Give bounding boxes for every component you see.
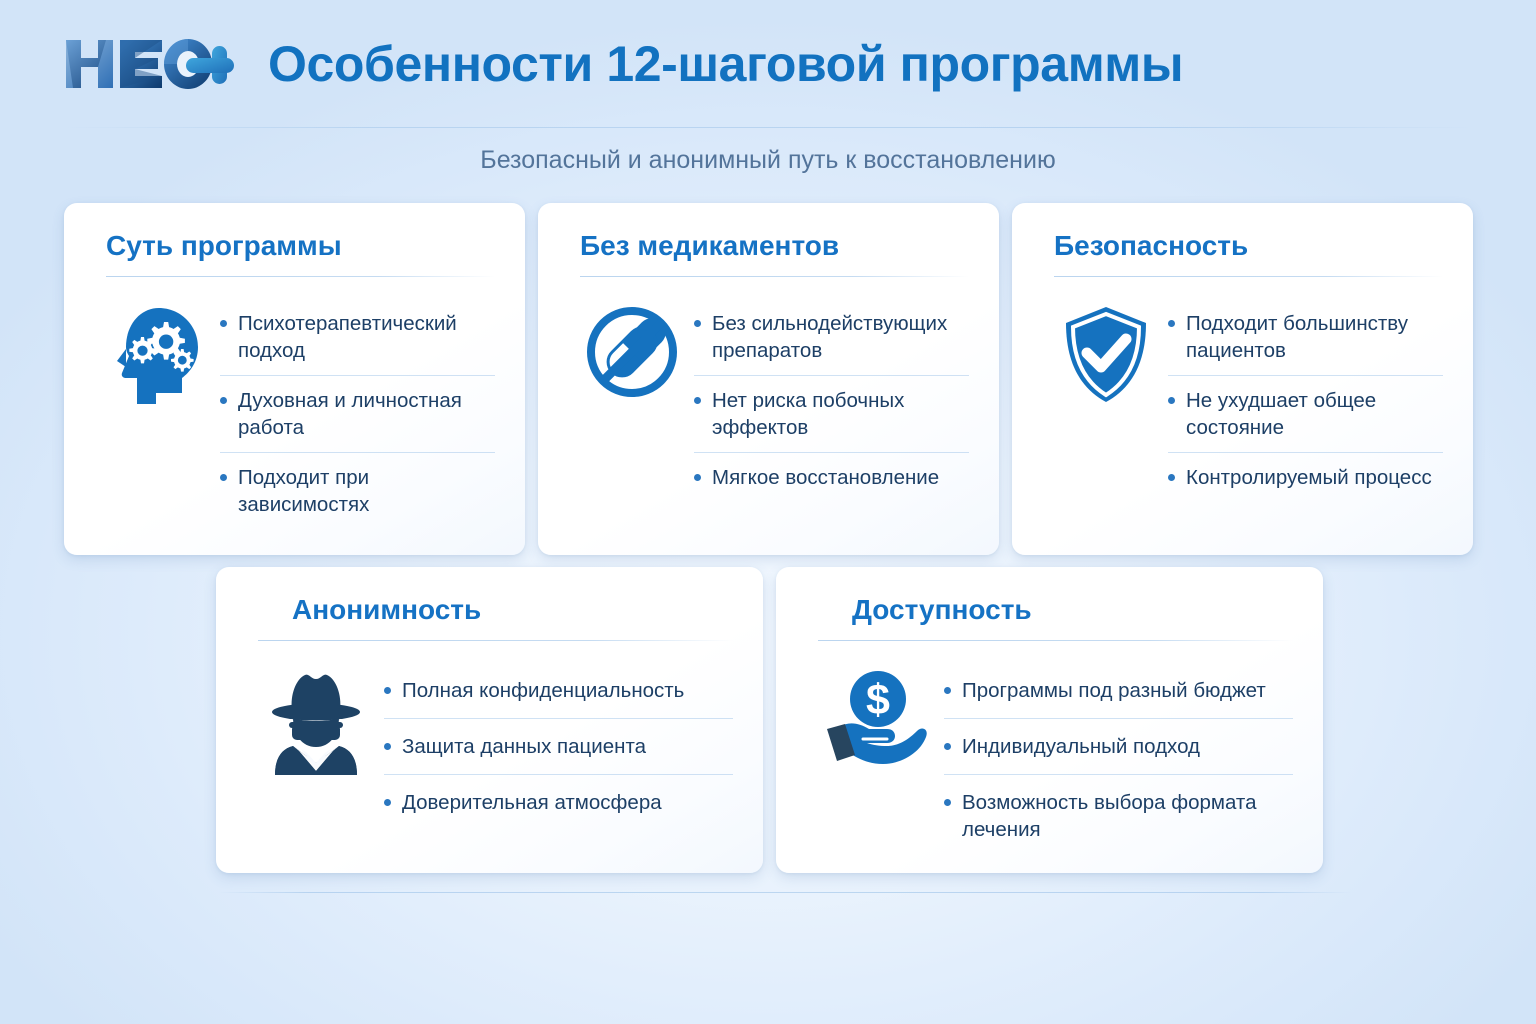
footer-divider xyxy=(218,892,1352,893)
list-item: Полная конфиденциальность xyxy=(384,663,733,719)
list-item-text: Доверительная атмосфера xyxy=(402,789,733,816)
list-item-text: Психотерапевтический подход xyxy=(238,310,495,364)
list-item-text: Индивидуальный подход xyxy=(962,733,1293,760)
no-pills-icon-svg xyxy=(585,305,679,399)
card-title: Безопасность xyxy=(1054,231,1443,262)
bullet-dot-icon xyxy=(220,320,227,327)
list-item: Мягкое восстановление xyxy=(694,453,969,502)
head-gears-icon xyxy=(106,299,210,407)
card-title-divider xyxy=(106,276,495,277)
spy-incognito-icon xyxy=(258,663,374,779)
page-header: Особенности 12-шаговой программы xyxy=(0,0,1536,128)
shield-check-icon xyxy=(1054,299,1158,405)
spy-incognito-icon-svg xyxy=(263,667,369,779)
bullet-dot-icon xyxy=(944,799,951,806)
page-subtitle: Безопасный и анонимный путь к восстановл… xyxy=(0,146,1536,175)
infographic-page: Особенности 12-шаговой программы Безопас… xyxy=(0,0,1536,1024)
list-item-text: Духовная и личностная работа xyxy=(238,387,495,441)
card-title: Доступность xyxy=(852,595,1293,626)
list-item-text: Нет риска побочных эффектов xyxy=(712,387,969,441)
list-item: Защита данных пациента xyxy=(384,719,733,775)
list-item: Подходит большинству пациентов xyxy=(1168,299,1443,376)
card-body: Полная конфиденциальность Защита данных … xyxy=(258,649,733,851)
no-pills-icon xyxy=(580,299,684,399)
card-title: Суть программы xyxy=(106,231,495,262)
svg-text:$: $ xyxy=(866,676,890,724)
list-item: Доверительная атмосфера xyxy=(384,775,733,830)
bullet-dot-icon xyxy=(694,320,701,327)
card-suschnost[interactable]: Суть программы xyxy=(64,203,525,555)
list-item: Без сильнодействующих препаратов xyxy=(694,299,969,376)
bullet-list: Без сильнодействующих препаратов Нет рис… xyxy=(684,299,969,502)
card-body: Психотерапевтический подход Духовная и л… xyxy=(106,285,495,533)
head-gears-icon-svg xyxy=(112,305,204,407)
list-item-text: Подходит большинству пациентов xyxy=(1186,310,1443,364)
bullet-list: Подходит большинству пациентов Не ухудша… xyxy=(1158,299,1443,502)
list-item: Нет риска побочных эффектов xyxy=(694,376,969,453)
list-item-text: Подходит при зависимостях xyxy=(238,464,495,518)
card-title-divider xyxy=(580,276,969,277)
card-row-bottom: Анонимность xyxy=(216,567,1324,873)
card-title-divider xyxy=(1054,276,1443,277)
brand-logo xyxy=(62,34,240,94)
card-title: Без медикаментов xyxy=(580,231,969,262)
bullet-dot-icon xyxy=(944,743,951,750)
bullet-dot-icon xyxy=(694,397,701,404)
list-item-text: Без сильнодействующих препаратов xyxy=(712,310,969,364)
list-item-text: Не ухудшает общее состояние xyxy=(1186,387,1443,441)
bullet-dot-icon xyxy=(220,474,227,481)
card-body: Без сильнодействующих препаратов Нет рис… xyxy=(580,285,969,533)
list-item-text: Контролируемый процесс xyxy=(1186,464,1443,491)
card-anonimnost[interactable]: Анонимность xyxy=(216,567,763,873)
page-title: Особенности 12-шаговой программы xyxy=(268,39,1183,89)
list-item: Духовная и личностная работа xyxy=(220,376,495,453)
bullet-dot-icon xyxy=(1168,320,1175,327)
list-item-text: Мягкое восстановление xyxy=(712,464,969,491)
card-bez-medikamentov[interactable]: Без медикаментов xyxy=(538,203,999,555)
list-item: Психотерапевтический подход xyxy=(220,299,495,376)
list-item: Возможность выбора формата лечения xyxy=(944,775,1293,857)
list-item: Контролируемый процесс xyxy=(1168,453,1443,502)
hand-dollar-coin-icon: $ xyxy=(818,663,934,771)
card-title-divider xyxy=(818,640,1293,641)
header-divider xyxy=(62,127,1474,128)
bullet-dot-icon xyxy=(1168,397,1175,404)
bullet-dot-icon xyxy=(384,799,391,806)
card-title: Анонимность xyxy=(292,595,733,626)
bullet-list: Полная конфиденциальность Защита данных … xyxy=(374,663,733,830)
bullet-dot-icon xyxy=(694,474,701,481)
bullet-dot-icon xyxy=(384,743,391,750)
bullet-dot-icon xyxy=(384,687,391,694)
card-body: $ Программы под разный бюджет xyxy=(818,649,1293,857)
bullet-dot-icon xyxy=(944,687,951,694)
shield-check-icon-svg xyxy=(1062,305,1150,405)
list-item: Подходит при зависимостях xyxy=(220,453,495,529)
bullet-dot-icon xyxy=(220,397,227,404)
card-dostupnost[interactable]: Доступность $ xyxy=(776,567,1323,873)
neo-plus-logo-icon xyxy=(62,34,240,94)
card-row-top: Суть программы xyxy=(64,203,1474,555)
bullet-dot-icon xyxy=(1168,474,1175,481)
list-item-text: Программы под разный бюджет xyxy=(962,677,1293,704)
list-item-text: Возможность выбора формата лечения xyxy=(962,789,1293,843)
list-item: Программы под разный бюджет xyxy=(944,663,1293,719)
bullet-list: Психотерапевтический подход Духовная и л… xyxy=(210,299,495,529)
list-item-text: Полная конфиденциальность xyxy=(402,677,733,704)
list-item: Индивидуальный подход xyxy=(944,719,1293,775)
card-bezopasnost[interactable]: Безопасность Подходит большинству пациен… xyxy=(1012,203,1473,555)
list-item-text: Защита данных пациента xyxy=(402,733,733,760)
bullet-list: Программы под разный бюджет Индивидуальн… xyxy=(934,663,1293,857)
hand-dollar-coin-icon-svg: $ xyxy=(821,667,931,771)
list-item: Не ухудшает общее состояние xyxy=(1168,376,1443,453)
card-title-divider xyxy=(258,640,733,641)
card-body: Подходит большинству пациентов Не ухудша… xyxy=(1054,285,1443,533)
